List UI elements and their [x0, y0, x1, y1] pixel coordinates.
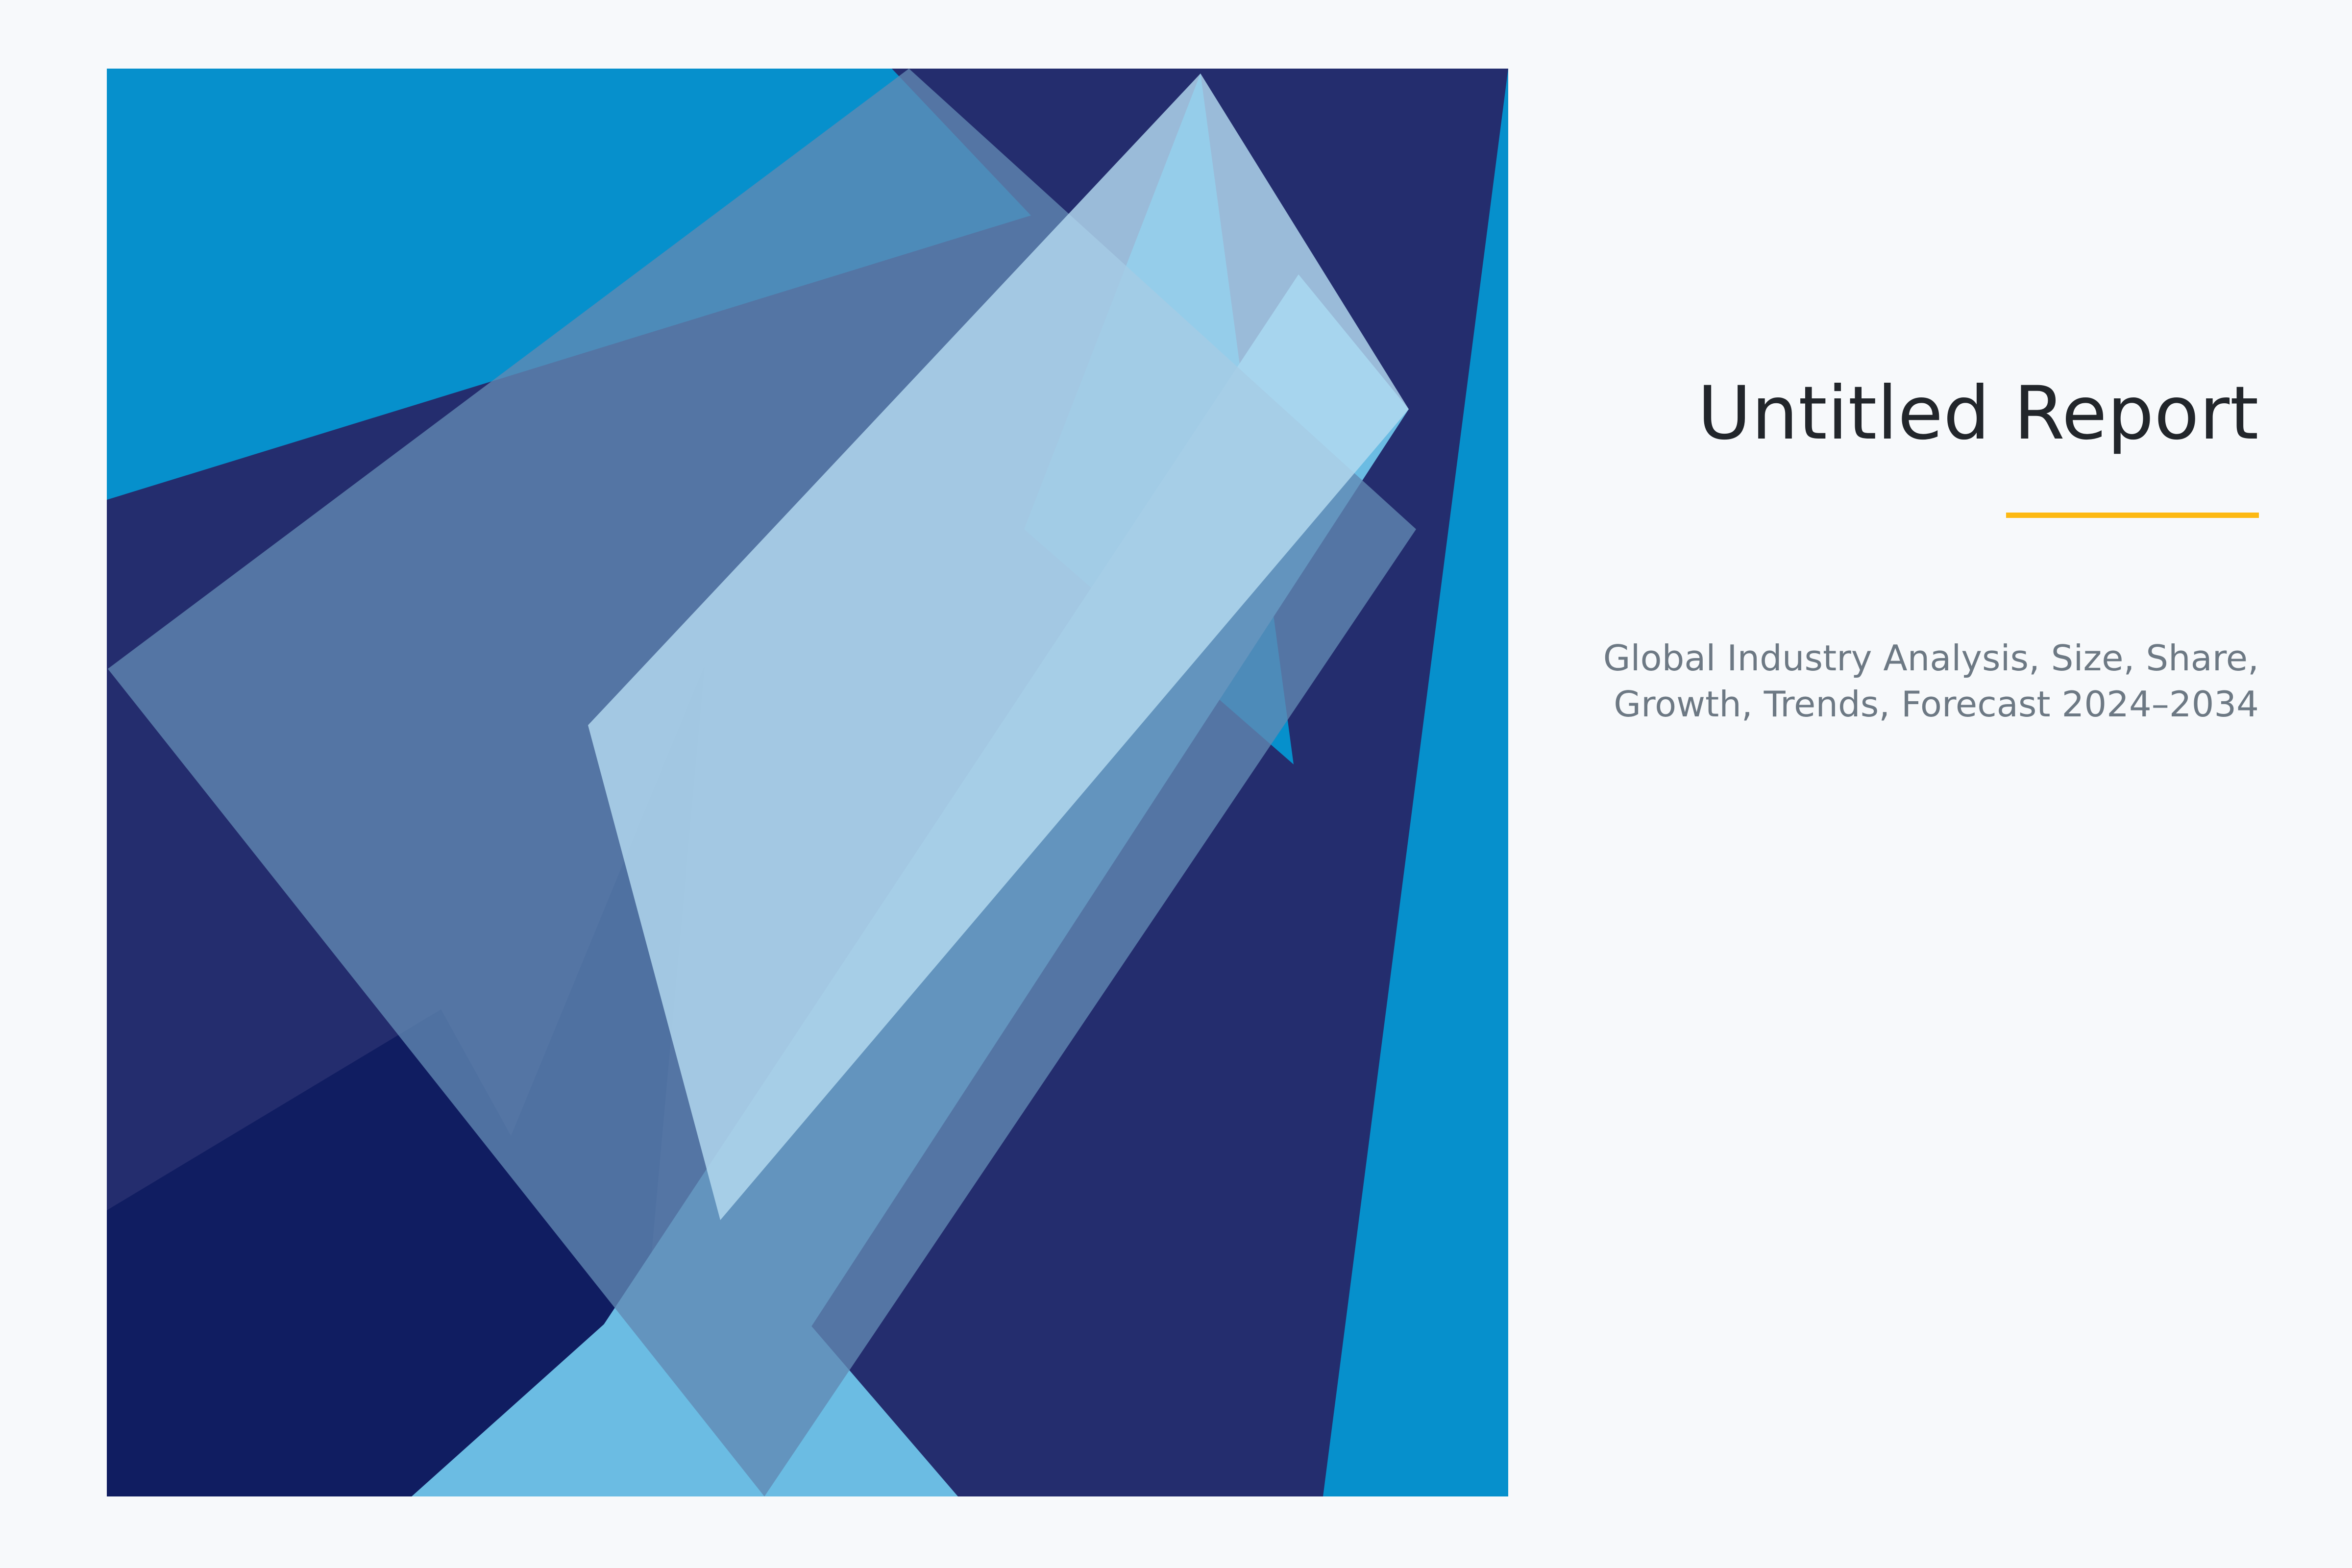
page-title: Untitled Report	[1543, 372, 2259, 455]
report-subtitle: Global Industry Analysis, Size, Share, G…	[1543, 636, 2259, 727]
report-subtitle-line-1: Global Industry Analysis, Size, Share,	[1543, 636, 2259, 682]
report-subtitle-line-2: Growth, Trends, Forecast 2024–2034	[1543, 682, 2259, 728]
title-block: Untitled Report Global Industry Analysis…	[1543, 372, 2259, 727]
title-accent-rule	[2006, 513, 2259, 518]
report-cover-page: Untitled Report Global Industry Analysis…	[0, 0, 2352, 1568]
cover-art-container	[0, 0, 2352, 1568]
